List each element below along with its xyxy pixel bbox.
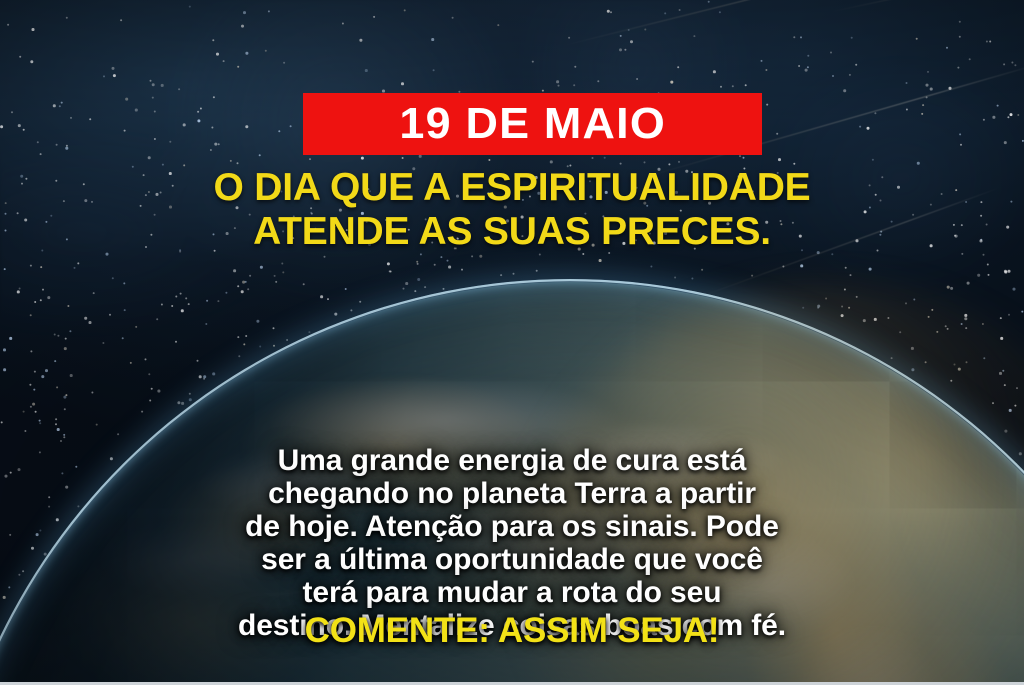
- poster-content: 19 DE MAIO O DIA QUE A ESPIRITUALIDADE A…: [0, 0, 1024, 685]
- poster-canvas: 19 DE MAIO O DIA QUE A ESPIRITUALIDADE A…: [0, 0, 1024, 685]
- body-line-4: ser a última oportunidade que você: [0, 543, 1024, 576]
- call-to-action-text: COMENTE: ASSIM SEJA!: [0, 612, 1024, 651]
- date-banner-label: 19 DE MAIO: [399, 102, 666, 146]
- page-title: O DIA QUE A ESPIRITUALIDADE ATENDE AS SU…: [0, 166, 1024, 254]
- body-line-1: Uma grande energia de cura está: [0, 444, 1024, 477]
- date-banner: 19 DE MAIO: [303, 93, 762, 155]
- headline-line-2: ATENDE AS SUAS PRECES.: [0, 210, 1024, 254]
- body-line-3: de hoje. Atenção para os sinais. Pode: [0, 510, 1024, 543]
- body-line-5: terá para mudar a rota do seu: [0, 576, 1024, 609]
- headline-line-1: O DIA QUE A ESPIRITUALIDADE: [0, 166, 1024, 210]
- body-line-2: chegando no planeta Terra a partir: [0, 477, 1024, 510]
